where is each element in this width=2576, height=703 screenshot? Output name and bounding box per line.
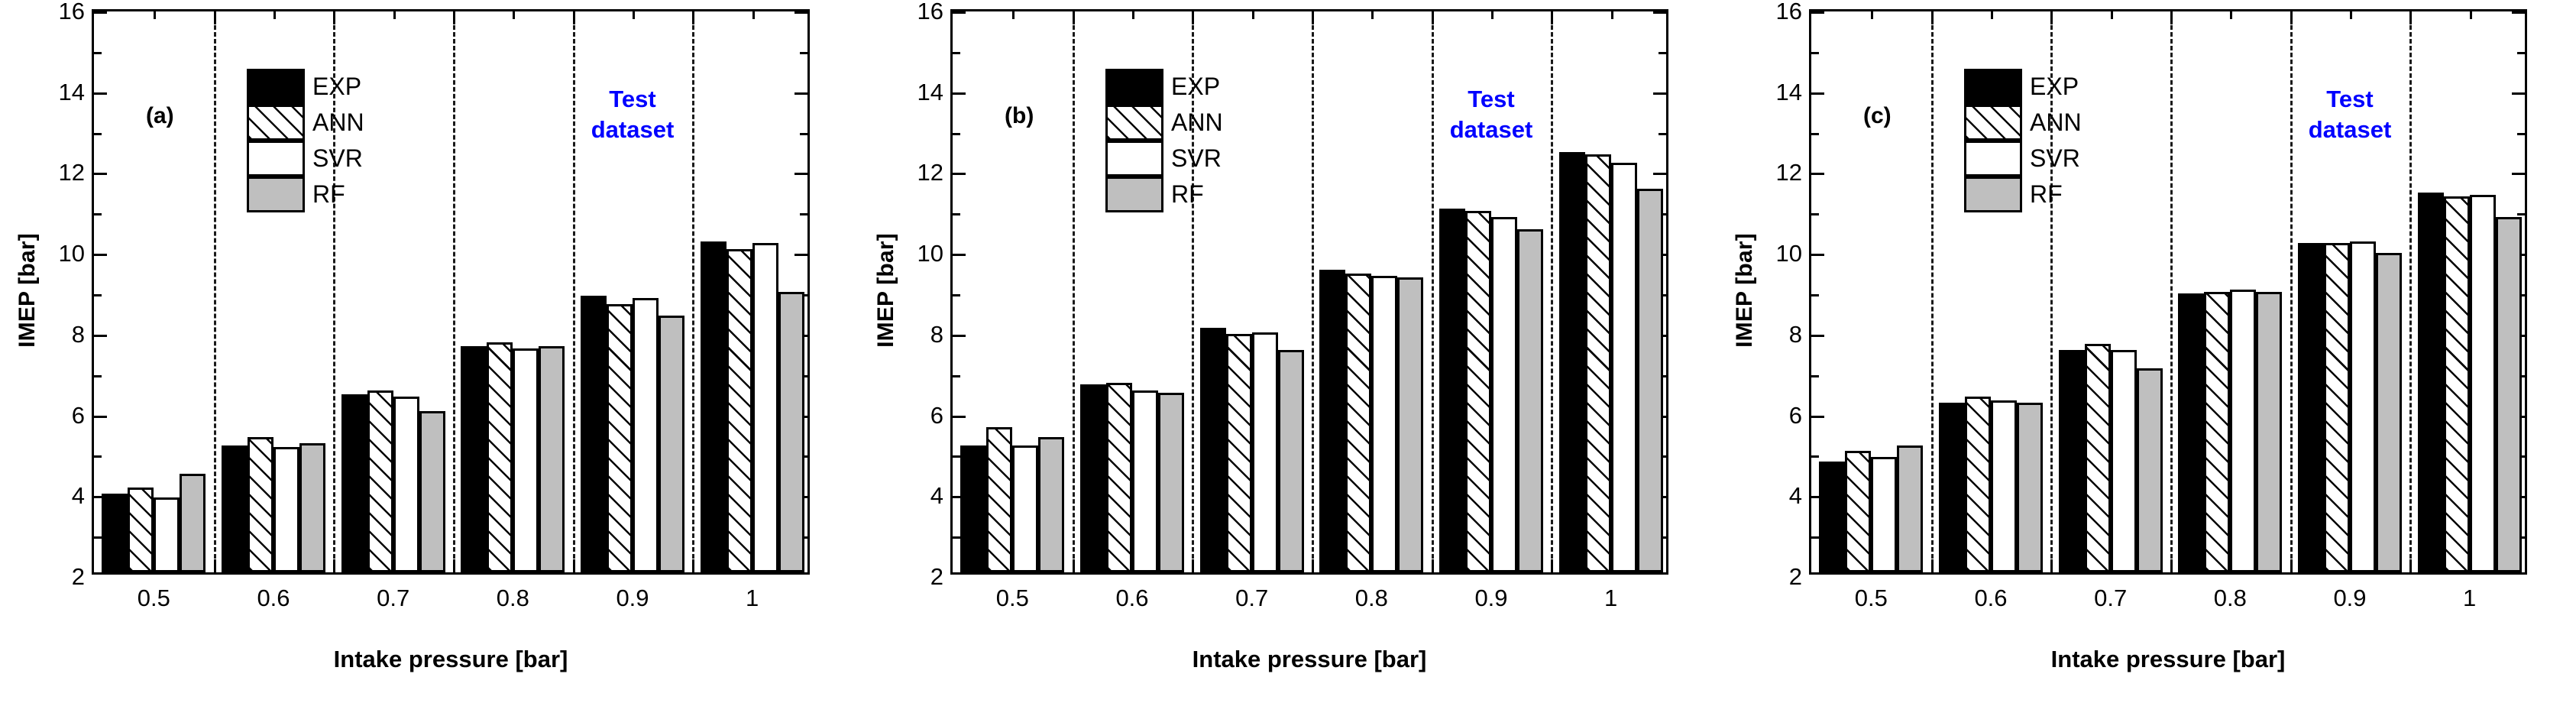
bar-ann-0.7 — [1226, 334, 1252, 572]
y-tick-label: 16 — [1776, 0, 1802, 25]
legend-item-rf: RF — [247, 177, 364, 212]
bar-rf-0.7 — [419, 411, 445, 572]
x-tick-label: 0.7 — [2094, 585, 2127, 612]
bar-rf-0.8 — [539, 346, 565, 572]
plot-area: 2468101214160.50.60.70.80.91(b)EXPANNSVR… — [950, 9, 1668, 575]
x-tick-minor-top — [154, 11, 156, 19]
y-tick-major-right — [1653, 92, 1666, 95]
legend-swatch-exp — [1964, 69, 2022, 105]
x-tick-top — [2170, 11, 2173, 24]
x-tick-label: 0.8 — [1355, 585, 1388, 612]
bar-svr-0.6 — [1132, 390, 1158, 572]
x-tick-label: 0.9 — [1474, 585, 1507, 612]
y-tick-major — [94, 335, 107, 337]
x-tick-bottom — [1432, 559, 1434, 572]
y-tick-label: 10 — [1776, 240, 1802, 267]
x-tick-bottom — [1551, 559, 1553, 572]
y-tick-minor — [94, 213, 102, 215]
legend-item-exp: EXP — [247, 69, 364, 105]
y-tick-label: 14 — [1776, 79, 1802, 106]
y-tick-label: 16 — [59, 0, 85, 25]
test-dataset-note: Testdataset — [1419, 84, 1564, 144]
legend-label: RF — [312, 180, 345, 209]
y-tick-minor — [953, 536, 960, 539]
x-tick-label: 1 — [1604, 585, 1617, 612]
x-tick-top — [1192, 11, 1194, 24]
bar-rf-0.6 — [1158, 393, 1184, 572]
x-tick-bottom — [2290, 559, 2293, 572]
x-tick-bottom — [1312, 559, 1314, 572]
x-tick-label: 0.6 — [257, 585, 290, 612]
x-tick-label: 0.8 — [497, 585, 529, 612]
y-tick-minor — [94, 455, 102, 458]
y-tick-label: 8 — [1789, 321, 1802, 348]
y-tick-major — [94, 416, 107, 418]
y-tick-label: 8 — [72, 321, 85, 348]
legend-swatch-ann — [1964, 105, 2022, 141]
y-tick-label: 4 — [72, 482, 85, 510]
plot-area: 2468101214160.50.60.70.80.91(c)EXPANNSVR… — [1809, 9, 2527, 575]
bar-ann-1 — [1585, 154, 1611, 572]
y-tick-minor — [953, 133, 960, 135]
x-tick-minor-top — [752, 11, 755, 19]
legend-label: ANN — [312, 109, 364, 137]
x-tick-minor-top — [2111, 11, 2113, 19]
bar-ann-0.7 — [2085, 344, 2111, 572]
bar-ann-0.6 — [248, 437, 273, 572]
test-dataset-note-line1: Test — [2277, 84, 2422, 115]
x-tick-bottom — [1192, 559, 1194, 572]
x-tick-label: 0.5 — [1855, 585, 1888, 612]
bar-svr-1 — [1611, 163, 1637, 573]
bar-exp-0.5 — [960, 445, 986, 573]
bar-rf-0.5 — [1897, 445, 1923, 573]
x-tick-minor-top — [1252, 11, 1254, 19]
y-tick-minor — [1811, 375, 1819, 377]
bar-ann-0.6 — [1965, 397, 1991, 572]
legend-item-ann: ANN — [1105, 105, 1223, 141]
group-separator — [1312, 11, 1314, 572]
x-tick-label: 0.7 — [377, 585, 409, 612]
bar-exp-0.8 — [461, 346, 487, 572]
y-tick-label: 10 — [917, 240, 943, 267]
y-tick-major — [1811, 173, 1824, 175]
bar-exp-0.7 — [2059, 350, 2085, 572]
chart-panel-1: IMEP [bar]2468101214160.50.60.70.80.91(a… — [0, 0, 859, 703]
legend-label: EXP — [2030, 73, 2079, 101]
group-separator — [214, 11, 216, 572]
bar-svr-0.6 — [1991, 400, 2017, 572]
y-tick-label: 6 — [1789, 402, 1802, 429]
bar-svr-0.8 — [1371, 276, 1397, 573]
bar-svr-0.5 — [154, 497, 180, 572]
bar-ann-0.6 — [1106, 383, 1132, 572]
x-tick-top — [692, 11, 694, 24]
y-tick-label: 14 — [917, 79, 943, 106]
y-tick-major-right — [1653, 173, 1666, 175]
y-tick-major — [953, 416, 966, 418]
y-tick-major — [1811, 11, 1824, 14]
bar-exp-0.8 — [2178, 293, 2204, 572]
x-tick-label: 0.9 — [2333, 585, 2366, 612]
legend-label: EXP — [312, 73, 361, 101]
x-tick-top — [1432, 11, 1434, 24]
legend-item-svr: SVR — [247, 141, 364, 177]
x-tick-top — [214, 11, 216, 24]
test-dataset-note: Testdataset — [2277, 84, 2422, 144]
y-tick-major-right — [794, 11, 807, 14]
legend-swatch-rf — [1964, 177, 2022, 212]
panel-letter: (c) — [1863, 103, 1892, 129]
y-tick-minor — [1811, 133, 1819, 135]
x-tick-bottom — [2170, 559, 2173, 572]
plot-frame: 2468101214160.50.60.70.80.91(a)EXPANNSVR… — [92, 9, 810, 575]
y-tick-major — [94, 11, 107, 14]
legend-swatch-exp — [1105, 69, 1163, 105]
legend-swatch-svr — [247, 141, 305, 177]
bar-svr-1 — [2470, 195, 2496, 572]
bar-rf-0.7 — [2137, 368, 2163, 572]
test-dataset-note: Testdataset — [560, 84, 705, 144]
bar-rf-0.6 — [299, 443, 325, 572]
bar-rf-0.5 — [180, 474, 205, 573]
y-tick-label: 12 — [59, 159, 85, 186]
y-tick-major-right — [2512, 11, 2525, 14]
y-tick-label: 2 — [930, 563, 943, 591]
y-tick-label: 2 — [72, 563, 85, 591]
bar-ann-0.8 — [1345, 274, 1371, 572]
y-tick-minor — [953, 375, 960, 377]
bar-rf-0.7 — [1278, 350, 1304, 572]
bar-ann-0.8 — [2204, 292, 2230, 572]
legend-swatch-ann — [1105, 105, 1163, 141]
bar-ann-0.7 — [367, 390, 393, 572]
y-tick-minor-right — [1659, 52, 1666, 54]
legend-swatch-svr — [1964, 141, 2022, 177]
x-tick-minor-top — [1491, 11, 1493, 19]
y-tick-label: 16 — [917, 0, 943, 25]
bar-svr-0.6 — [273, 447, 299, 572]
y-tick-major-right — [794, 173, 807, 175]
bar-rf-0.9 — [2376, 253, 2402, 572]
chart-panel-2: IMEP [bar]2468101214160.50.60.70.80.91(b… — [859, 0, 1717, 703]
legend-item-rf: RF — [1105, 177, 1223, 212]
y-tick-minor-right — [2517, 133, 2525, 135]
y-axis-title-text: IMEP [bar] — [15, 233, 40, 348]
plot-frame: 2468101214160.50.60.70.80.91(c)EXPANNSVR… — [1809, 9, 2527, 575]
legend-label: SVR — [312, 144, 363, 173]
test-dataset-note-line1: Test — [1419, 84, 1564, 115]
bar-exp-0.5 — [102, 494, 128, 572]
bar-exp-0.9 — [1439, 209, 1465, 572]
test-dataset-note-line2: dataset — [1419, 115, 1564, 145]
y-tick-major — [953, 335, 966, 337]
x-tick-minor-top — [2470, 11, 2472, 19]
y-axis-title-text: IMEP [bar] — [873, 233, 899, 348]
group-separator — [2170, 11, 2173, 572]
y-tick-minor-right — [1659, 133, 1666, 135]
bar-ann-0.9 — [1465, 211, 1491, 572]
x-tick-top — [2050, 11, 2053, 24]
x-tick-top — [573, 11, 575, 24]
bar-svr-0.9 — [2350, 241, 2376, 572]
test-dataset-note-line1: Test — [560, 84, 705, 115]
x-tick-minor-top — [1991, 11, 1993, 19]
legend-label: ANN — [1171, 109, 1223, 137]
x-tick-label: 1 — [2463, 585, 2476, 612]
bar-exp-0.9 — [2298, 243, 2324, 572]
y-tick-minor — [953, 52, 960, 54]
y-tick-minor — [94, 294, 102, 296]
y-tick-minor-right — [2517, 52, 2525, 54]
y-tick-minor — [953, 455, 960, 458]
legend-swatch-svr — [1105, 141, 1163, 177]
bar-exp-1 — [1559, 152, 1585, 572]
bar-exp-0.7 — [341, 394, 367, 572]
legend-item-exp: EXP — [1964, 69, 2082, 105]
y-tick-minor — [1811, 294, 1819, 296]
x-tick-top — [333, 11, 335, 24]
y-tick-major — [953, 254, 966, 256]
x-tick-minor-top — [1012, 11, 1015, 19]
bar-ann-0.5 — [1845, 451, 1871, 572]
y-tick-major-right — [2512, 173, 2525, 175]
x-axis-title: Intake pressure [bar] — [1809, 646, 2527, 673]
bar-rf-0.6 — [2017, 403, 2043, 572]
bar-exp-1 — [701, 241, 727, 572]
y-tick-label: 10 — [59, 240, 85, 267]
bar-svr-0.8 — [513, 348, 539, 572]
x-tick-minor-top — [1371, 11, 1374, 19]
y-tick-minor — [953, 294, 960, 296]
y-axis-title-text: IMEP [bar] — [1732, 233, 1758, 348]
bar-exp-0.6 — [1939, 403, 1965, 572]
y-axis-title: IMEP [bar] — [869, 0, 903, 581]
bar-svr-0.8 — [2230, 290, 2256, 572]
test-dataset-note-line2: dataset — [560, 115, 705, 145]
y-tick-minor-right — [800, 213, 807, 215]
x-tick-minor-top — [1611, 11, 1613, 19]
y-tick-minor — [1811, 536, 1819, 539]
y-tick-major-right — [2512, 92, 2525, 95]
legend-swatch-rf — [247, 177, 305, 212]
y-tick-label: 12 — [1776, 159, 1802, 186]
y-tick-major — [953, 173, 966, 175]
bar-svr-0.9 — [633, 298, 659, 572]
legend: EXPANNSVRRF — [1964, 69, 2082, 212]
legend: EXPANNSVRRF — [1105, 69, 1223, 212]
group-separator — [1931, 11, 1934, 572]
bar-rf-0.8 — [2256, 292, 2282, 572]
bar-svr-0.5 — [1871, 457, 1897, 572]
x-tick-top — [1931, 11, 1934, 24]
bar-svr-1 — [752, 243, 778, 572]
bar-svr-0.9 — [1491, 217, 1517, 572]
legend-item-svr: SVR — [1105, 141, 1223, 177]
bar-rf-1 — [1637, 189, 1663, 572]
y-tick-label: 6 — [930, 402, 943, 429]
plot-area: 2468101214160.50.60.70.80.91(a)EXPANNSVR… — [92, 9, 810, 575]
bar-exp-0.7 — [1200, 328, 1226, 572]
x-tick-minor-top — [513, 11, 515, 19]
x-tick-label: 0.8 — [2214, 585, 2247, 612]
x-tick-label: 0.9 — [616, 585, 649, 612]
y-tick-major-right — [1653, 11, 1666, 14]
group-separator — [1073, 11, 1075, 572]
y-tick-major — [1811, 254, 1824, 256]
x-tick-top — [2409, 11, 2412, 24]
x-tick-minor-top — [1132, 11, 1134, 19]
y-tick-minor — [94, 536, 102, 539]
y-axis-title: IMEP [bar] — [11, 0, 44, 581]
x-tick-top — [453, 11, 455, 24]
x-tick-label: 0.5 — [138, 585, 170, 612]
legend-label: EXP — [1171, 73, 1220, 101]
figure-root: IMEP [bar]2468101214160.50.60.70.80.91(a… — [0, 0, 2576, 703]
y-tick-label: 2 — [1789, 563, 1802, 591]
y-tick-major — [953, 11, 966, 14]
x-tick-label: 0.7 — [1235, 585, 1268, 612]
bar-rf-1 — [778, 292, 804, 572]
x-tick-top — [1551, 11, 1553, 24]
bar-ann-1 — [2444, 196, 2470, 572]
bar-rf-1 — [2496, 217, 2522, 572]
x-axis-title: Intake pressure [bar] — [92, 646, 810, 673]
x-tick-bottom — [2050, 559, 2053, 572]
bar-rf-0.8 — [1397, 277, 1423, 572]
x-tick-minor-top — [273, 11, 276, 19]
y-tick-major-right — [794, 92, 807, 95]
bar-ann-0.9 — [2324, 243, 2350, 572]
bar-svr-0.7 — [1252, 332, 1278, 573]
x-tick-minor-top — [393, 11, 396, 19]
y-tick-label: 6 — [72, 402, 85, 429]
chart-panel-3: IMEP [bar]2468101214160.50.60.70.80.91(c… — [1717, 0, 2576, 703]
legend-label: ANN — [2030, 109, 2082, 137]
legend-label: SVR — [1171, 144, 1222, 173]
y-tick-minor-right — [800, 133, 807, 135]
y-tick-minor-right — [800, 52, 807, 54]
y-tick-minor-right — [2517, 213, 2525, 215]
y-tick-minor — [1811, 52, 1819, 54]
x-axis-title: Intake pressure [bar] — [950, 646, 1668, 673]
bar-ann-0.5 — [986, 427, 1012, 572]
bar-svr-0.5 — [1012, 445, 1038, 573]
x-tick-label: 0.5 — [996, 585, 1029, 612]
y-tick-minor — [1811, 455, 1819, 458]
bar-rf-0.9 — [659, 316, 684, 572]
x-tick-label: 1 — [746, 585, 759, 612]
x-tick-minor-top — [633, 11, 635, 19]
y-tick-minor — [1811, 213, 1819, 215]
y-tick-minor — [94, 133, 102, 135]
x-tick-bottom — [2409, 559, 2412, 572]
x-tick-minor-top — [1871, 11, 1873, 19]
x-tick-bottom — [692, 559, 694, 572]
x-tick-top — [1312, 11, 1314, 24]
y-tick-label: 4 — [1789, 482, 1802, 510]
bar-exp-0.6 — [1080, 384, 1106, 572]
test-dataset-note-line2: dataset — [2277, 115, 2422, 145]
bar-exp-0.9 — [581, 296, 607, 572]
y-tick-label: 8 — [930, 321, 943, 348]
y-tick-major — [1811, 416, 1824, 418]
panel-letter: (b) — [1005, 103, 1034, 129]
y-tick-minor — [94, 52, 102, 54]
bar-exp-1 — [2418, 193, 2444, 572]
x-tick-top — [1073, 11, 1075, 24]
legend-item-exp: EXP — [1105, 69, 1223, 105]
legend-swatch-rf — [1105, 177, 1163, 212]
y-tick-minor — [94, 375, 102, 377]
y-tick-minor — [953, 213, 960, 215]
legend-item-ann: ANN — [1964, 105, 2082, 141]
legend-label: RF — [2030, 180, 2063, 209]
y-tick-major — [1811, 335, 1824, 337]
bar-svr-0.7 — [393, 397, 419, 572]
x-tick-minor-top — [2230, 11, 2232, 19]
x-tick-label: 0.6 — [1974, 585, 2007, 612]
y-tick-major — [94, 254, 107, 256]
group-separator — [453, 11, 455, 572]
y-axis-title: IMEP [bar] — [1728, 0, 1762, 581]
bar-exp-0.6 — [222, 445, 248, 573]
bar-svr-0.7 — [2111, 350, 2137, 572]
bar-ann-0.9 — [607, 304, 633, 573]
bar-ann-0.8 — [487, 342, 513, 572]
plot-frame: 2468101214160.50.60.70.80.91(b)EXPANNSVR… — [950, 9, 1668, 575]
legend-item-svr: SVR — [1964, 141, 2082, 177]
legend: EXPANNSVRRF — [247, 69, 364, 212]
x-tick-bottom — [214, 559, 216, 572]
y-tick-major — [1811, 92, 1824, 95]
y-tick-major — [94, 173, 107, 175]
legend-label: SVR — [2030, 144, 2080, 173]
legend-item-rf: RF — [1964, 177, 2082, 212]
y-tick-major — [953, 92, 966, 95]
x-tick-bottom — [1073, 559, 1075, 572]
x-tick-label: 0.6 — [1115, 585, 1148, 612]
y-tick-major — [94, 92, 107, 95]
bar-exp-0.8 — [1319, 270, 1345, 572]
bar-exp-0.5 — [1819, 462, 1845, 572]
legend-swatch-ann — [247, 105, 305, 141]
panel-letter: (a) — [146, 103, 174, 129]
bar-rf-0.9 — [1517, 229, 1543, 572]
x-tick-top — [2290, 11, 2293, 24]
y-tick-label: 14 — [59, 79, 85, 106]
x-tick-bottom — [333, 559, 335, 572]
x-tick-bottom — [573, 559, 575, 572]
legend-label: RF — [1171, 180, 1204, 209]
y-tick-major-right — [794, 254, 807, 256]
legend-swatch-exp — [247, 69, 305, 105]
x-tick-minor-top — [2350, 11, 2352, 19]
y-tick-label: 12 — [917, 159, 943, 186]
bar-ann-0.5 — [128, 488, 154, 572]
x-tick-bottom — [1931, 559, 1934, 572]
x-tick-bottom — [453, 559, 455, 572]
legend-item-ann: ANN — [247, 105, 364, 141]
bar-rf-0.5 — [1038, 437, 1064, 572]
bar-ann-1 — [727, 249, 752, 572]
y-tick-label: 4 — [930, 482, 943, 510]
